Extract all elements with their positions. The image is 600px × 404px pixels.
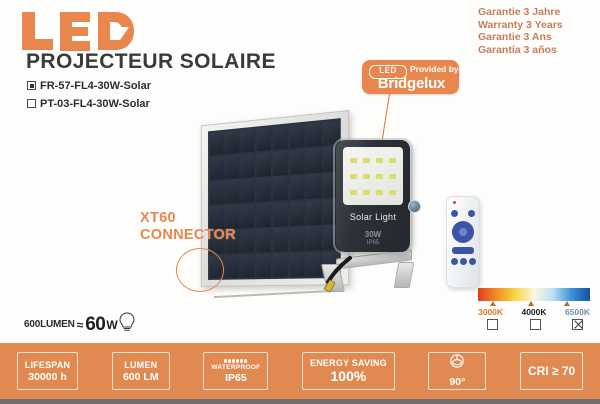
remote-button: [468, 210, 475, 217]
color-temperature-selector: 3000K 4000K 6500K: [478, 288, 590, 330]
xt60-line-2: CONNECTOR: [140, 227, 236, 244]
checkbox-icon[interactable]: [27, 81, 36, 90]
cct-checkboxes: [487, 319, 583, 330]
feature-lifespan: LIFESPAN 30000 h: [17, 352, 78, 390]
cct-checkbox-4000k[interactable]: [530, 319, 541, 330]
xt60-cable: [316, 256, 356, 296]
remote-dpad: [452, 221, 474, 243]
feature-cri-value: CRI ≥ 70: [528, 365, 575, 377]
feature-lumen-value: 600 LM: [123, 371, 159, 383]
feature-energy-saving: ENERGY SAVING 100%: [302, 352, 395, 390]
bottom-edge-strip: [0, 399, 600, 404]
model-option-1[interactable]: PT-03-FL4-30W-Solar: [27, 96, 151, 111]
checkbox-icon[interactable]: [27, 99, 36, 108]
equivalent-watts: 60: [85, 314, 105, 336]
feature-cri: CRI ≥ 70: [520, 352, 583, 390]
feature-waterproof: WATERPROOF IP65: [203, 352, 268, 390]
warranty-line-de: Garantie 3 Jahre: [478, 6, 563, 19]
watt-unit: W: [106, 318, 117, 332]
cct-gradient-bar: [478, 288, 590, 301]
feature-lumen-title: LUMEN: [124, 360, 157, 371]
warranty-line-fr: Garantie 3 Ans: [478, 31, 563, 44]
remote-button: [451, 258, 458, 265]
water-drops-icon: [224, 359, 247, 363]
lumen-equivalence: 600LUMEN ≈ 60 W: [24, 312, 135, 337]
feature-waterproof-value: IP65: [225, 372, 247, 384]
feature-waterproof-title: WATERPROOF: [211, 364, 260, 372]
remote-control: [446, 196, 480, 288]
feature-beam-angle: 90°: [428, 352, 486, 390]
product-label-page: PROJECTEUR SOLAIRE FR-57-FL4-30W-Solar P…: [0, 0, 600, 404]
remote-button-wide: [452, 247, 474, 254]
cct-label-3000k: 3000K: [478, 307, 503, 317]
approx-symbol: ≈: [77, 318, 84, 332]
floodlight-product: Solar Light 30W IP65: [336, 140, 418, 256]
cct-arrow-3000k: [490, 301, 496, 306]
model-label: FR-57-FL4-30W-Solar: [40, 80, 151, 92]
cct-checkbox-3000k[interactable]: [487, 319, 498, 330]
remote-ir-led-icon: [453, 201, 456, 204]
beam-angle-icon: [448, 354, 466, 374]
lumen-value: 600LUMEN: [24, 319, 75, 330]
xt60-highlight-circle: [176, 248, 224, 292]
feature-energy-value: 100%: [331, 369, 367, 384]
cct-arrow-markers: [478, 301, 590, 307]
feature-lifespan-value: 30000 h: [28, 371, 67, 383]
floodlight-bezel: [333, 138, 413, 254]
cct-checkbox-6500k[interactable]: [572, 319, 583, 330]
model-list: FR-57-FL4-30W-Solar PT-03-FL4-30W-Solar: [27, 78, 151, 114]
led-logo: [16, 8, 136, 54]
badge-brand-name: Bridgelux: [368, 75, 455, 92]
warranty-block: Garantie 3 Jahre Warranty 3 Years Garant…: [478, 6, 563, 56]
model-label: PT-03-FL4-30W-Solar: [40, 98, 150, 110]
page-title: PROJECTEUR SOLAIRE: [26, 50, 276, 74]
remote-button: [469, 258, 476, 265]
warranty-line-en: Warranty 3 Years: [478, 19, 563, 32]
remote-button: [460, 258, 467, 265]
bulb-icon: [119, 312, 135, 337]
cct-arrow-4000k: [528, 301, 534, 306]
model-option-0[interactable]: FR-57-FL4-30W-Solar: [27, 78, 151, 93]
bridgelux-badge: LED Provided by Bridgelux: [362, 60, 459, 94]
feature-lumen: LUMEN 600 LM: [112, 352, 170, 390]
remote-button: [451, 210, 458, 217]
feature-lifespan-title: LIFESPAN: [25, 360, 70, 371]
feature-bar: LIFESPAN 30000 h LUMEN 600 LM WATERPROOF…: [0, 343, 600, 399]
cct-label-6500k: 6500K: [565, 307, 590, 317]
badge-provided-by: Provided by: [410, 64, 459, 74]
xt60-line-1: XT60: [140, 210, 236, 227]
feature-beam-angle-value: 90°: [449, 376, 465, 388]
lamp-pivot-knob: [408, 200, 421, 213]
cct-label-4000k: 4000K: [521, 307, 546, 317]
cct-labels: 3000K 4000K 6500K: [478, 307, 590, 317]
cct-arrow-6500k: [564, 301, 570, 306]
warranty-line-es: Garantía 3 años: [478, 44, 563, 57]
xt60-annotation: XT60 CONNECTOR: [140, 210, 236, 244]
